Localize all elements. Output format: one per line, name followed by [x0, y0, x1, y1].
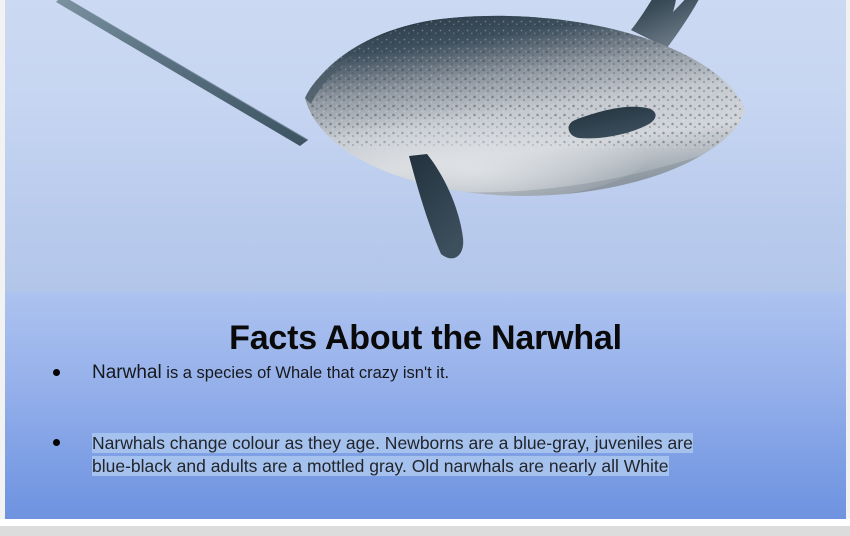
- presentation-editor: Facts About the Narwhal Narwhal is a spe…: [0, 0, 850, 536]
- bullet-item-2-line-2: blue-black and adults are a mottled gray…: [92, 455, 693, 478]
- bullet-item-1-rest: is a species of Whale that crazy isn't i…: [162, 364, 449, 382]
- bullet-item-1[interactable]: Narwhal is a species of Whale that crazy…: [53, 362, 813, 384]
- bullet-dot-icon: [53, 439, 60, 446]
- narwhal-body-icon: [275, 0, 755, 280]
- slide-bottom-gap: [0, 519, 850, 526]
- bullet-item-1-lead: Narwhal: [92, 362, 162, 383]
- narwhal-photo[interactable]: [5, 0, 846, 292]
- selection-highlight: blue-black and adults are a mottled gray…: [92, 456, 669, 476]
- editor-bottom-bar: [0, 526, 850, 536]
- bullet-item-2-line-1: Narwhals change colour as they age. Newb…: [92, 432, 693, 455]
- slide-frame: Facts About the Narwhal Narwhal is a spe…: [0, 0, 850, 524]
- bullet-item-2-text[interactable]: Narwhals change colour as they age. Newb…: [92, 432, 693, 478]
- bullet-item-2[interactable]: Narwhals change colour as they age. Newb…: [53, 432, 813, 478]
- selection-highlight: Narwhals change colour as they age. Newb…: [92, 433, 693, 453]
- slide-text-body: Facts About the Narwhal Narwhal is a spe…: [5, 292, 846, 519]
- bullet-item-1-text[interactable]: Narwhal is a species of Whale that crazy…: [92, 362, 449, 384]
- slide-canvas[interactable]: Facts About the Narwhal Narwhal is a spe…: [5, 0, 846, 519]
- bullet-dot-icon: [53, 369, 60, 376]
- slide-title[interactable]: Facts About the Narwhal: [5, 318, 846, 358]
